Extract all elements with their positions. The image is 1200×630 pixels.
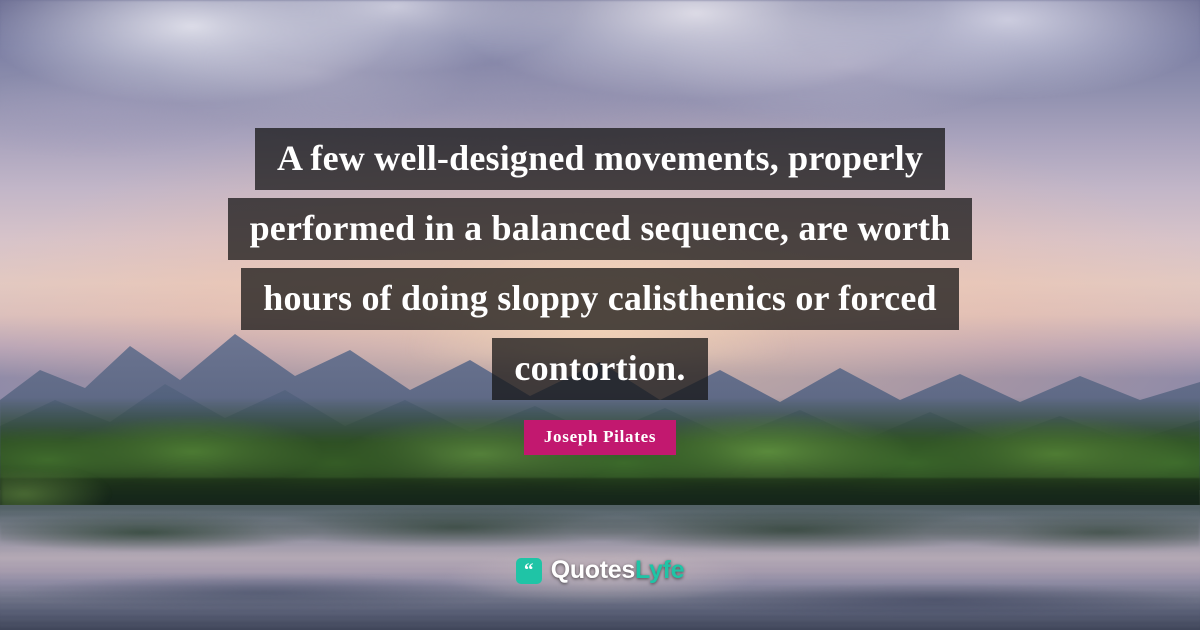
brand-logo[interactable]: “ QuotesLyfe: [0, 556, 1200, 585]
quote-mark-icon: “: [516, 558, 542, 584]
quote-line-3: hours of doing sloppy calisthenics or fo…: [241, 268, 959, 330]
quote-author: Joseph Pilates: [524, 420, 676, 455]
brand-name-part2: Lyfe: [635, 556, 684, 584]
author-block: Joseph Pilates: [0, 420, 1200, 455]
brand-name-part1: Quotes: [551, 556, 635, 584]
quote-line-1: A few well-designed movements, properly: [255, 128, 945, 190]
brand-name: QuotesLyfe: [551, 556, 685, 585]
quote-text-block: A few well-designed movements, properly …: [0, 128, 1200, 408]
quote-line-4: contortion.: [492, 338, 707, 400]
quote-card: A few well-designed movements, properly …: [0, 0, 1200, 630]
quote-line-2: performed in a balanced sequence, are wo…: [228, 198, 973, 260]
